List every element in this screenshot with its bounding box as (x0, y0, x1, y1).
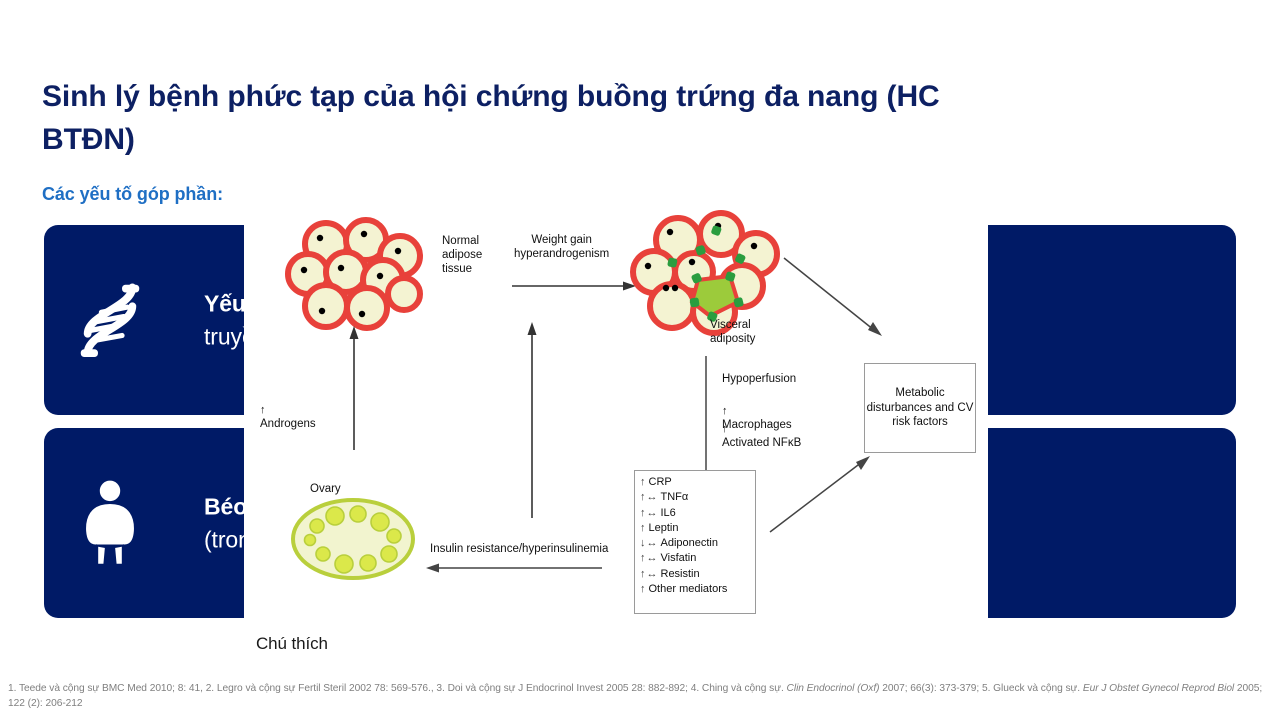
up-arrow-icon: ↑ (640, 553, 646, 564)
bidirectional-arrow-icon: ↔ (647, 538, 658, 549)
label-visceral-adiposity: Visceral adiposity (710, 318, 755, 346)
footnote-line1-b: 2007; 66(3): 373-379; 5. Glueck (879, 683, 1024, 694)
metabolic-box-text: Metabolic disturbances and CV risk facto… (865, 386, 975, 429)
arrow-mediators-to-metabolic (768, 454, 876, 536)
arrow-androgens-up (348, 326, 360, 450)
bidirectional-arrow-icon: ↔ (647, 569, 658, 580)
up-arrow-icon: ↑ (640, 569, 646, 580)
mediator-name: Visfatin (661, 551, 697, 566)
mediators-list-box: ↑CRP↑↔TNFα↑↔IL6↑Leptin↓↔Adiponectin↑↔Vis… (634, 470, 756, 614)
mediator-arrows: ↑ (640, 523, 646, 534)
mediator-arrows: ↑ (640, 477, 646, 488)
mediator-row: ↑Other mediators (640, 582, 750, 597)
figure-caption: Chú thích (256, 634, 328, 654)
footnote-references: 1. Teede và cộng sự BMC Med 2010; 8: 41,… (8, 681, 1272, 712)
label-androgens-row: ↑ Androgens (260, 389, 316, 431)
mediator-row: ↑↔Visfatin (640, 551, 750, 566)
mediator-arrows: ↑ (640, 584, 646, 595)
mediator-name: Leptin (649, 521, 679, 536)
mediator-name: CRP (649, 475, 672, 490)
mediator-arrows: ↑↔ (640, 508, 658, 519)
mediator-row: ↑↔Resistin (640, 567, 750, 582)
ovary-icon (290, 496, 416, 582)
bidirectional-arrow-icon: ↔ (647, 553, 658, 564)
mediator-row: ↑↔TNFα (640, 490, 750, 505)
up-arrow-icon: ↑ (640, 492, 646, 503)
line-visceral-to-mediators (704, 356, 708, 478)
mediator-row: ↓↔Adiponectin (640, 536, 750, 551)
label-nfkb-row: ↑ Activated NFκB (722, 408, 801, 450)
mediator-arrows: ↑↔ (640, 492, 658, 503)
arrow-to-metabolic-box (782, 256, 888, 342)
mediator-name: Adiponectin (661, 536, 719, 551)
label-insulin-resistance: Insulin resistance/hyperinsulinemia (430, 542, 608, 556)
mediator-arrows: ↑↔ (640, 569, 658, 580)
visceral-adiposity-cluster-icon (626, 214, 786, 340)
mediator-row: ↑↔IL6 (640, 506, 750, 521)
normal-adipose-cluster-icon (282, 218, 432, 336)
mediator-row: ↑CRP (640, 475, 750, 490)
page-title: Sinh lý bệnh phức tạp của hội chứng buồn… (42, 76, 1002, 161)
label-normal-adipose: Normal adipose tissue (442, 234, 482, 276)
mediator-arrows: ↑↔ (640, 553, 658, 564)
footnote-line2-italic: Eur J Obstet Gynecol Reprod Biol (1083, 683, 1234, 694)
dna-icon (62, 272, 158, 368)
label-androgens: Androgens (260, 418, 316, 430)
bidirectional-arrow-icon: ↔ (647, 508, 658, 519)
label-hypoperfusion: Hypoperfusion (722, 372, 796, 386)
up-arrow-icon: ↑ (722, 423, 728, 435)
pathophysiology-figure: Normal adipose tissue Weight gain hypera… (244, 206, 988, 618)
bidirectional-arrow-icon: ↔ (647, 492, 658, 503)
arrow-insulin-resistance-left (426, 562, 602, 574)
mediator-arrows: ↓↔ (640, 538, 658, 549)
page-subtitle: Các yếu tố góp phần: (42, 184, 223, 205)
mediator-name: TNFα (661, 490, 689, 505)
mediator-name: Other mediators (649, 582, 728, 597)
mediator-name: IL6 (661, 506, 676, 521)
label-weight-gain: Weight gain hyperandrogenism (514, 233, 609, 261)
arrow-insulin-up (526, 322, 538, 518)
label-activated-nfkb: Activated NFκB (722, 437, 801, 449)
footnote-line1-italic: Clin Endocrinol (Oxf) (787, 683, 880, 694)
obese-person-icon (62, 475, 158, 571)
up-arrow-icon: ↑ (640, 477, 646, 488)
mediator-row: ↑Leptin (640, 521, 750, 536)
arrow-weight-gain (512, 280, 636, 292)
footnote-line1-a: 1. Teede và cộng sự BMC Med 2010; 8: 41,… (8, 683, 787, 694)
up-arrow-icon: ↑ (260, 404, 266, 416)
up-arrow-icon: ↑ (640, 584, 646, 595)
footnote-line2-a: và cộng sự. (1027, 683, 1083, 694)
mediator-name: Resistin (661, 567, 700, 582)
up-arrow-icon: ↑ (640, 508, 646, 519)
up-arrow-icon: ↑ (640, 523, 646, 534)
down-arrow-icon: ↓ (640, 538, 646, 549)
label-ovary: Ovary (310, 482, 341, 496)
metabolic-disturbances-box: Metabolic disturbances and CV risk facto… (864, 363, 976, 453)
